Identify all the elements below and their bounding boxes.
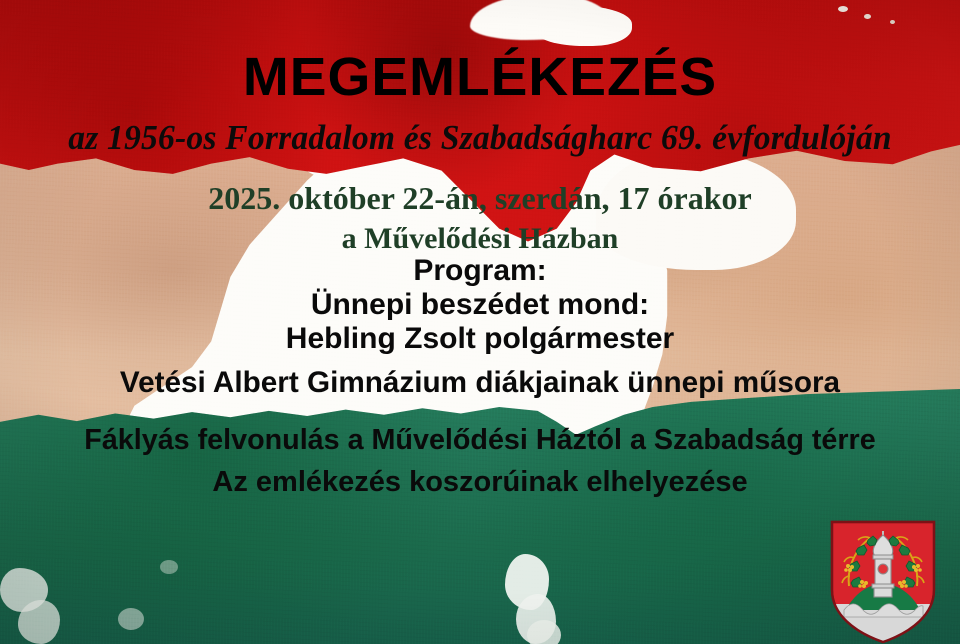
page-title: MEGEMLÉKEZÉS bbox=[0, 46, 960, 108]
program-heading: Program: bbox=[0, 254, 960, 288]
tower-round-window bbox=[878, 564, 888, 574]
program-item-wreath-laying: Az emlékezés koszorúinak elhelyezése bbox=[0, 466, 960, 499]
coat-of-arms bbox=[828, 518, 938, 644]
tower-cornice-top bbox=[873, 555, 893, 559]
program-item-speech: Ünnepi beszédet mond: bbox=[0, 288, 960, 322]
event-date-line: 2025. október 22-án, szerdán, 17 órakor bbox=[0, 180, 960, 217]
program-item-mayor: Hebling Zsolt polgármester bbox=[0, 322, 960, 356]
event-venue-line: a Művelődési Házban bbox=[0, 222, 960, 256]
program-item-school-performance: Vetési Albert Gimnázium diákjainak ünnep… bbox=[5, 366, 955, 400]
commemoration-poster: MEGEMLÉKEZÉS az 1956-os Forradalom és Sz… bbox=[0, 0, 960, 644]
tower-cornice-bottom bbox=[872, 584, 894, 588]
program-item-torchlight-march: Fáklyás felvonulás a Művelődési Háztól a… bbox=[5, 424, 955, 457]
poster-subtitle: az 1956-os Forradalom és Szabadságharc 6… bbox=[19, 118, 941, 158]
poster-text-block: MEGEMLÉKEZÉS az 1956-os Forradalom és Sz… bbox=[0, 0, 960, 644]
tower-base bbox=[874, 588, 892, 597]
